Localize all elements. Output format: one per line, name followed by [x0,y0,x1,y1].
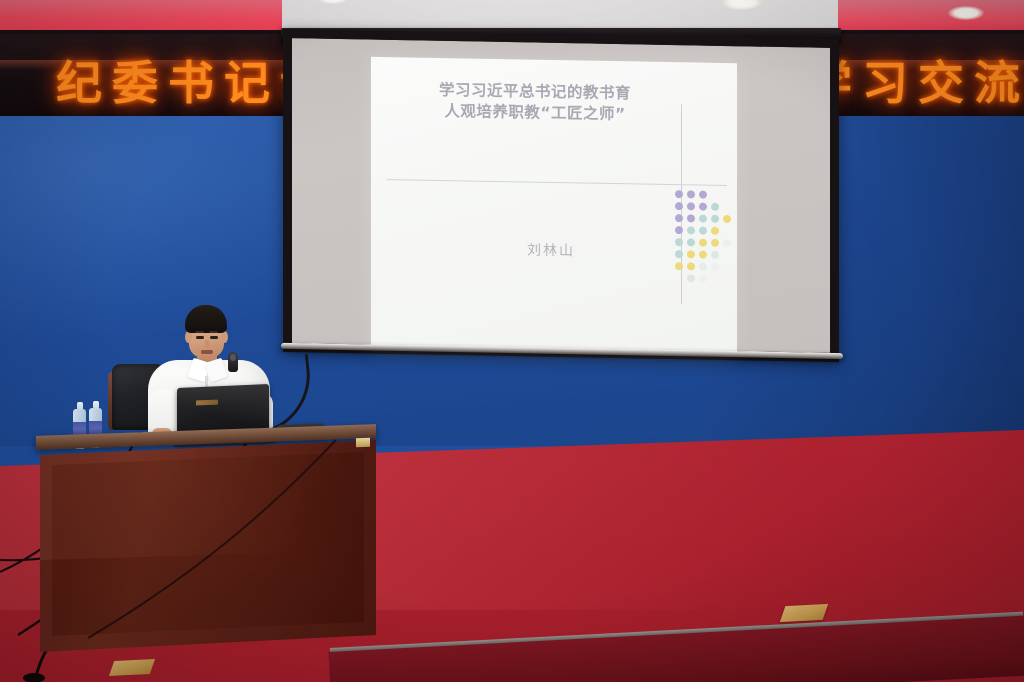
dot [675,226,683,234]
dot [699,215,707,223]
laptop-logo [196,400,218,406]
dot [711,227,719,235]
dot [675,190,683,198]
dot [675,238,683,246]
dot [675,214,683,222]
downlight-icon [948,6,984,20]
dot [723,239,731,247]
slide-title: 学习习近平总书记的教书育 人观培养职教“工匠之师” [385,79,685,127]
dot [675,262,683,270]
dot [711,251,719,259]
dot [711,239,719,247]
dot [699,275,707,283]
dot [699,263,707,271]
presentation-slide: 学习习近平总书记的教书育 人观培养职教“工匠之师” 刘林山 [371,57,737,353]
dot [699,191,707,199]
presenter-eye [210,336,218,339]
dot [699,239,707,247]
microphone-capsule-icon [228,352,238,372]
dot [687,274,695,282]
dot [711,215,719,223]
presenter-eye [196,336,204,339]
dot [687,250,695,258]
dot [687,214,695,222]
dot [675,250,683,258]
dot [687,226,695,234]
slide-author: 刘林山 [471,239,631,262]
dot [699,203,707,211]
slide-horizontal-rule [387,179,727,186]
dot [699,251,707,259]
dot [687,202,695,210]
dot [675,202,683,210]
podium-name-plate [356,438,370,447]
presenter-eyebrow [209,331,218,333]
presenter-eyebrow [195,331,204,333]
ceiling-red-glow-right [838,0,1024,34]
presenter-nose [205,340,209,348]
dot [687,190,695,198]
dot [687,262,695,270]
dot [711,203,719,211]
dot [711,263,719,271]
presenter-mouth [201,350,213,354]
conference-hall-scene: 纪委书记讲 学习交流会 学习习近平总书记的教书育 人观培养职教“工匠之师” 刘林… [0,0,1024,682]
dot [699,227,707,235]
podium-highlight [40,440,376,560]
dot [723,215,731,223]
slide-title-line-2: 人观培养职教“工匠之师” [385,100,685,127]
floor-outlet-plate [109,659,155,676]
dot [687,238,695,246]
floor-outlet-plate [780,604,828,622]
decorative-dot-grid [675,190,737,301]
